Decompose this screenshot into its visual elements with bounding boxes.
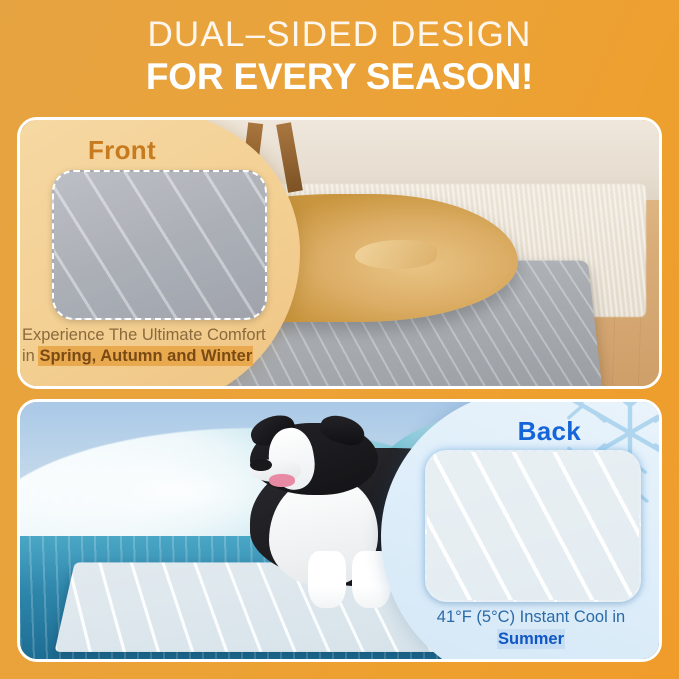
back-info-card: Back 41°F (5°C) Instant Cool in Summer <box>381 399 662 662</box>
white-cooling-fabric-swatch <box>425 450 641 602</box>
front-label: Front <box>88 135 156 166</box>
product-infographic: DUAL–SIDED DESIGN FOR EVERY SEASON! <box>0 0 679 679</box>
front-info-card: Front Experience The Ultimate Comfort in… <box>17 117 300 389</box>
dog-leg <box>308 551 346 608</box>
headline-secondary: FOR EVERY SEASON! <box>146 56 533 97</box>
back-caption-line1: 41°F (5°C) Instant <box>437 608 569 626</box>
header-banner: DUAL–SIDED DESIGN FOR EVERY SEASON! <box>0 0 679 112</box>
back-label: Back <box>518 416 581 447</box>
back-caption-line2: Cool in <box>574 608 625 626</box>
front-caption: Experience The Ultimate Comfort in Sprin… <box>22 325 274 367</box>
dog-tail <box>355 240 437 268</box>
back-panel: Back 41°F (5°C) Instant Cool in Summer <box>17 399 662 662</box>
back-caption: 41°F (5°C) Instant Cool in Summer <box>409 606 653 650</box>
front-caption-line1: Experience The Ultimate <box>22 326 202 344</box>
gray-quilted-fabric-swatch <box>52 170 267 320</box>
headline-primary: DUAL–SIDED DESIGN <box>147 15 531 55</box>
dog-tongue <box>269 474 295 487</box>
front-panel: Front Experience The Ultimate Comfort in… <box>17 117 662 389</box>
front-caption-highlight: Spring, Autumn and Winter <box>39 347 252 365</box>
back-caption-highlight: Summer <box>498 630 564 648</box>
